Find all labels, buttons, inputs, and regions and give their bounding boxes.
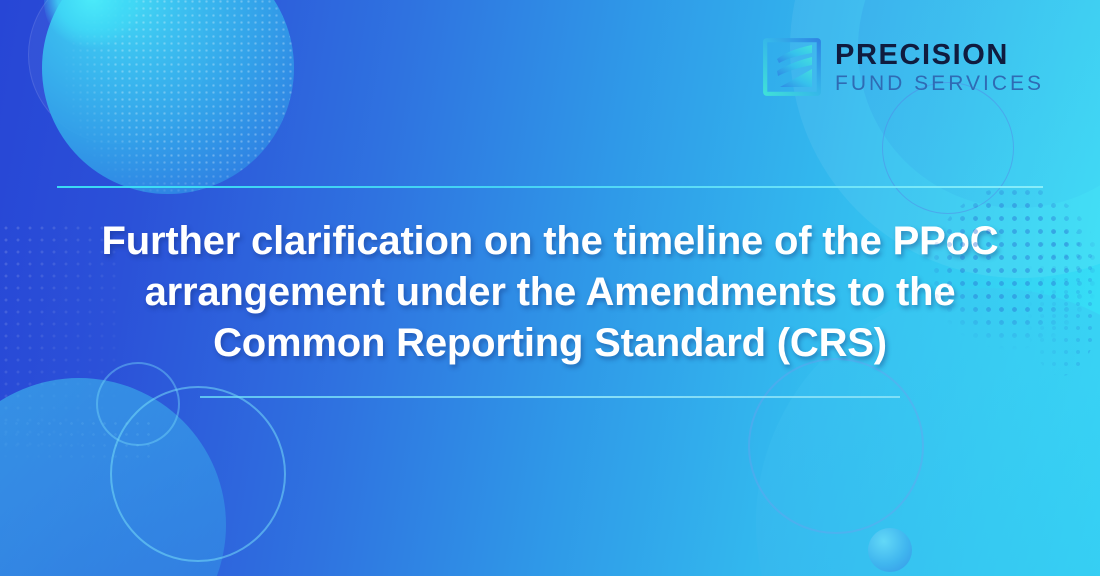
precision-square-swoosh-mark [763,38,821,96]
top-right-inner-arc [858,0,1100,208]
divider-top [57,186,1043,188]
headline-line-1: Further clarification on the timeline of… [102,219,999,263]
headline-halftone-overlay [930,186,1100,356]
brand-name-secondary: FUND SERVICES [835,73,1044,94]
bottom-left-outline-ring [110,386,286,562]
page-title: Further clarification on the timeline of… [45,216,1055,370]
top-left-highlight-blob [44,0,140,50]
brand-wordmark: PRECISION FUND SERVICES [835,41,1044,94]
bottom-left-filled-circle [0,378,226,576]
bottom-right-small-sphere [868,528,912,572]
top-left-outline-circle [28,0,206,144]
banner-card: PRECISION FUND SERVICES Further clarific… [0,0,1100,576]
top-left-gradient-sphere [42,0,294,194]
brand-name-primary: PRECISION [835,41,1044,70]
headline-line-3: Common Reporting Standard (CRS) [213,321,887,365]
brand-logo: PRECISION FUND SERVICES [763,38,1044,96]
top-left-halftone-dots [42,0,294,194]
headline-line-2: arrangement under the Amendments to the [145,270,956,314]
bottom-left-dot-patch [0,418,150,466]
divider-bottom [200,396,900,398]
